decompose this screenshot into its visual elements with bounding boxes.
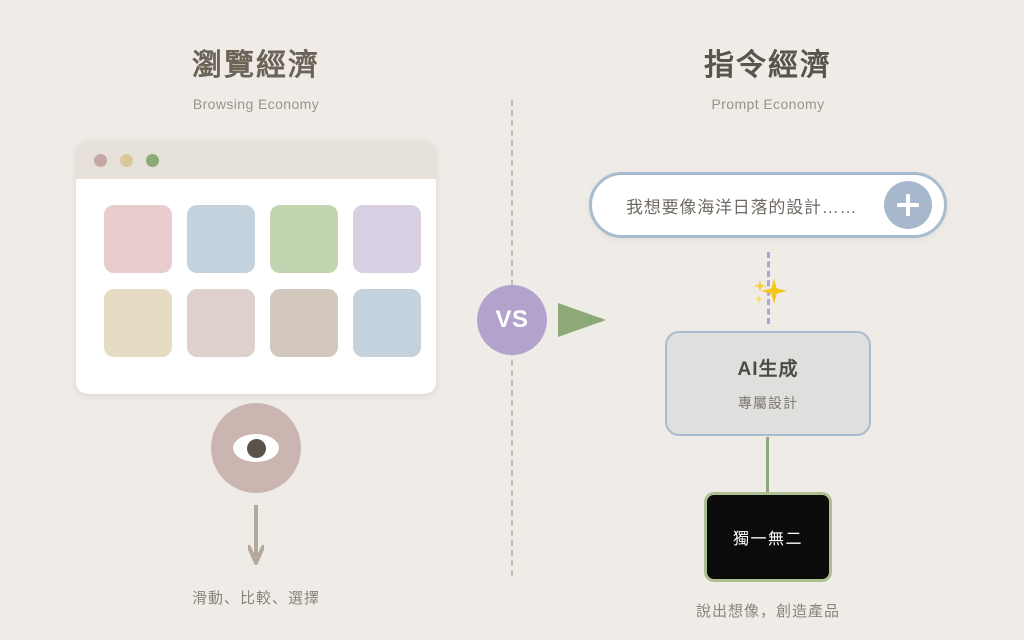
product-tile[interactable] <box>270 205 338 273</box>
ai-box-title: AI生成 <box>737 354 798 381</box>
right-title-en: Prompt Economy <box>558 96 978 112</box>
browser-window-mockup <box>76 141 436 394</box>
product-tile[interactable] <box>104 289 172 357</box>
ai-to-result-connector <box>766 437 769 492</box>
result-box-label: 獨一無二 <box>733 525 803 549</box>
arrow-down-icon <box>248 505 264 567</box>
ai-generation-box: AI生成 專屬設計 <box>665 331 871 436</box>
right-caption: 說出想像，創造產品 <box>558 600 978 621</box>
minimize-dot-icon[interactable] <box>120 154 133 167</box>
product-tile-grid <box>76 179 436 357</box>
right-column-heading: 指令經濟 Prompt Economy <box>558 48 978 112</box>
ai-box-subtitle: 專屬設計 <box>738 393 798 413</box>
result-box: 獨一無二 <box>704 492 832 582</box>
infographic-canvas: 瀏覽經濟 Browsing Economy 滑動、比較、選擇 VS <box>0 0 1024 640</box>
eye-pupil <box>247 439 266 458</box>
left-caption: 滑動、比較、選擇 <box>46 587 466 608</box>
product-tile[interactable] <box>270 289 338 357</box>
close-dot-icon[interactable] <box>94 154 107 167</box>
product-tile[interactable] <box>353 205 421 273</box>
maximize-dot-icon[interactable] <box>146 154 159 167</box>
vs-badge: VS <box>477 285 547 355</box>
plus-icon[interactable] <box>884 181 932 229</box>
eye-icon <box>211 403 301 493</box>
browser-titlebar <box>76 141 436 179</box>
sparkles-icon <box>748 270 794 314</box>
arrow-right-icon <box>558 303 606 337</box>
prompt-input-text[interactable]: 我想要像海洋日落的設計…… <box>626 193 884 218</box>
right-title-zh: 指令經濟 <box>558 48 978 84</box>
left-title-zh: 瀏覽經濟 <box>46 48 466 84</box>
product-tile[interactable] <box>353 289 421 357</box>
left-column-heading: 瀏覽經濟 Browsing Economy <box>46 48 466 112</box>
product-tile[interactable] <box>104 205 172 273</box>
product-tile[interactable] <box>187 289 255 357</box>
product-tile[interactable] <box>187 205 255 273</box>
eye-sclera <box>233 434 279 462</box>
left-title-en: Browsing Economy <box>46 96 466 112</box>
prompt-input-bar[interactable]: 我想要像海洋日落的設計…… <box>589 172 947 238</box>
vs-label: VS <box>495 306 528 334</box>
